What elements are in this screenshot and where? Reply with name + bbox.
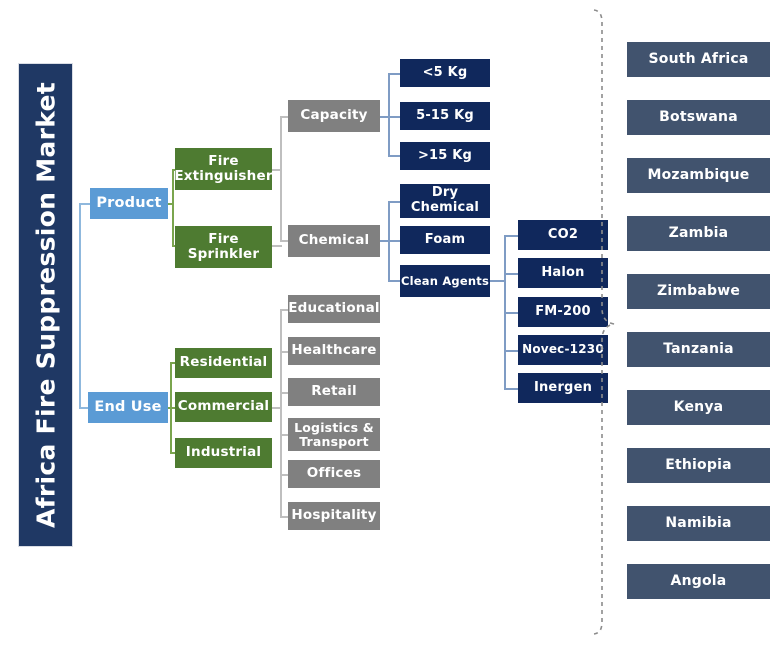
commercial-subsegment-logistics-transport-line2: Transport <box>299 435 369 449</box>
capacity-option-5-15kg-label: 5-15 Kg <box>416 109 474 124</box>
commercial-subsegment-educational-label: Educational <box>288 301 380 316</box>
commercial-subsegment-logistics-transport[interactable]: Logistics & Transport <box>288 418 380 451</box>
segment-product-label: Product <box>96 195 161 211</box>
region-tanzania[interactable]: Tanzania <box>627 332 770 367</box>
end-use-type-commercial[interactable]: Commercial <box>175 392 272 422</box>
region-botswana[interactable]: Botswana <box>627 100 770 135</box>
page-title: Africa Fire Suppression Market <box>31 82 60 528</box>
end-use-type-industrial[interactable]: Industrial <box>175 438 272 468</box>
region-tanzania-label: Tanzania <box>663 342 734 358</box>
connector-title-trunk <box>79 203 81 408</box>
regions-bracket <box>590 8 618 636</box>
region-mozambique[interactable]: Mozambique <box>627 158 770 193</box>
chemical-option-dry-chemical-line1: Dry <box>432 186 458 201</box>
region-namibia[interactable]: Namibia <box>627 506 770 541</box>
region-zimbabwe[interactable]: Zimbabwe <box>627 274 770 309</box>
connector-capacity-trunk <box>388 73 390 157</box>
chemical-option-clean-agents[interactable]: Clean Agents <box>400 265 490 297</box>
capacity-option-gt-15kg[interactable]: >15 Kg <box>400 142 490 170</box>
product-type-fire-sprinkler-line1: Fire <box>208 232 238 247</box>
region-mozambique-label: Mozambique <box>647 168 749 184</box>
connector-to-halon <box>504 273 519 275</box>
connector-to-fm200 <box>504 312 519 314</box>
commercial-subsegment-offices-label: Offices <box>307 466 361 481</box>
connector-product-group-trunk <box>280 116 282 242</box>
clean-agent-fm-200-label: FM-200 <box>535 305 591 320</box>
commercial-subsegment-offices[interactable]: Offices <box>288 460 380 488</box>
product-group-chemical[interactable]: Chemical <box>288 225 380 257</box>
end-use-type-industrial-label: Industrial <box>186 445 261 460</box>
end-use-type-residential[interactable]: Residential <box>175 348 272 378</box>
region-kenya-label: Kenya <box>674 400 724 416</box>
capacity-option-lt-5kg[interactable]: <5 Kg <box>400 59 490 87</box>
connector-sprinkler-stub <box>272 245 282 247</box>
connector-to-co2 <box>504 235 519 237</box>
region-zambia[interactable]: Zambia <box>627 216 770 251</box>
product-type-fire-sprinkler[interactable]: Fire Sprinkler <box>175 226 272 268</box>
commercial-subsegment-educational[interactable]: Educational <box>288 295 380 323</box>
product-group-chemical-label: Chemical <box>299 233 370 248</box>
product-type-fire-extinguisher-line2: Extinguisher <box>174 169 272 184</box>
region-ethiopia[interactable]: Ethiopia <box>627 448 770 483</box>
commercial-subsegment-retail-label: Retail <box>311 384 357 399</box>
diagram-title-bar: Africa Fire Suppression Market <box>18 63 73 547</box>
capacity-option-5-15kg[interactable]: 5-15 Kg <box>400 102 490 130</box>
region-namibia-label: Namibia <box>665 516 731 532</box>
clean-agent-inergen-label: Inergen <box>534 381 592 396</box>
commercial-subsegment-logistics-transport-line1: Logistics & <box>294 421 374 435</box>
region-zambia-label: Zambia <box>669 226 729 242</box>
connector-to-novec1230 <box>504 350 519 352</box>
product-group-capacity[interactable]: Capacity <box>288 100 380 132</box>
chemical-option-dry-chemical[interactable]: Dry Chemical <box>400 184 490 218</box>
region-kenya[interactable]: Kenya <box>627 390 770 425</box>
connector-to-inergen <box>504 388 519 390</box>
chemical-option-foam[interactable]: Foam <box>400 226 490 254</box>
region-angola-label: Angola <box>671 574 727 590</box>
chemical-option-clean-agents-label: Clean Agents <box>401 275 489 288</box>
segment-product[interactable]: Product <box>90 188 168 219</box>
capacity-option-lt-5kg-label: <5 Kg <box>423 66 468 81</box>
region-angola[interactable]: Angola <box>627 564 770 599</box>
commercial-subsegment-hospitality-label: Hospitality <box>291 508 376 523</box>
segment-end-use-label: End Use <box>94 399 161 415</box>
clean-agent-halon-label: Halon <box>541 266 584 281</box>
commercial-subsegment-healthcare[interactable]: Healthcare <box>288 337 380 365</box>
region-botswana-label: Botswana <box>659 110 738 126</box>
commercial-subsegment-hospitality[interactable]: Hospitality <box>288 502 380 530</box>
product-group-capacity-label: Capacity <box>300 108 367 123</box>
end-use-type-commercial-label: Commercial <box>178 399 270 414</box>
product-type-fire-sprinkler-line2: Sprinkler <box>188 247 260 262</box>
region-south-africa-label: South Africa <box>649 52 749 68</box>
commercial-subsegment-healthcare-label: Healthcare <box>291 343 376 358</box>
segment-end-use[interactable]: End Use <box>88 392 168 423</box>
capacity-option-gt-15kg-label: >15 Kg <box>418 149 472 164</box>
chemical-option-dry-chemical-line2: Chemical <box>411 201 479 216</box>
end-use-type-residential-label: Residential <box>180 355 268 370</box>
product-type-fire-extinguisher[interactable]: Fire Extinguisher <box>175 148 272 190</box>
region-zimbabwe-label: Zimbabwe <box>657 284 740 300</box>
connector-commercial-trunk <box>280 309 282 517</box>
chemical-option-foam-label: Foam <box>425 233 465 248</box>
region-south-africa[interactable]: South Africa <box>627 42 770 77</box>
product-type-fire-extinguisher-line1: Fire <box>208 154 238 169</box>
region-ethiopia-label: Ethiopia <box>665 458 732 474</box>
clean-agent-co2-label: CO2 <box>548 228 578 243</box>
commercial-subsegment-retail[interactable]: Retail <box>288 378 380 406</box>
market-segmentation-diagram: Africa Fire Suppression Market Product E… <box>0 0 782 649</box>
